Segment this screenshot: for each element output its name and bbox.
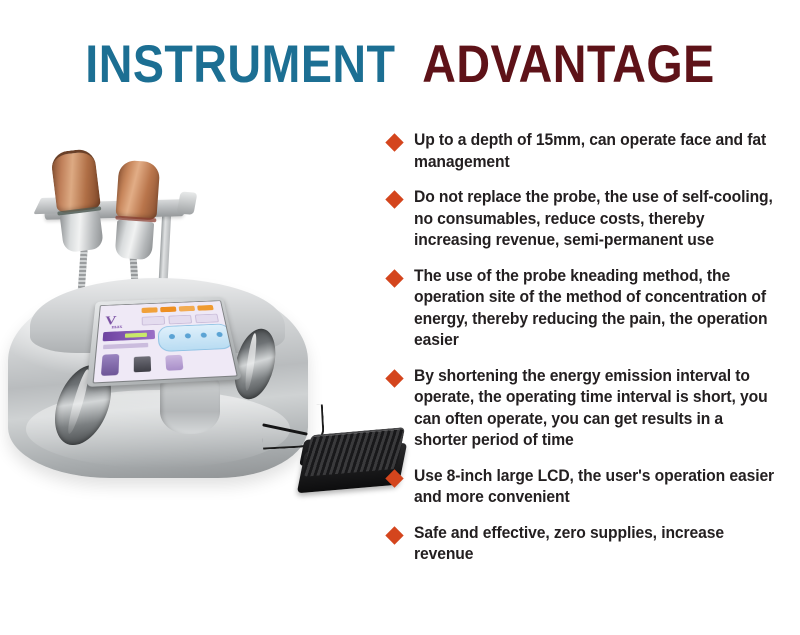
list-item-text: The use of the probe kneading method, th… [414, 266, 775, 352]
lcd-tab-bar[interactable] [142, 305, 214, 313]
lcd-settings-icon[interactable] [165, 355, 183, 371]
diamond-bullet-icon [385, 469, 403, 487]
product-image-vmax-machine: V max [0, 128, 380, 508]
lcd-energy-slider[interactable] [103, 330, 156, 342]
list-item-text: By shortening the energy emission interv… [414, 366, 775, 452]
list-item-text: Do not replace the probe, the use of sel… [414, 187, 775, 252]
page-title-word-instrument: INSTRUMENT [85, 35, 395, 94]
slide-root: INSTRUMENT ADVANTAGE V max [0, 0, 800, 635]
list-item: Use 8-inch large LCD, the user's operati… [388, 466, 792, 509]
handpiece-right [113, 160, 161, 261]
lcd-treatment-panel[interactable] [157, 323, 234, 352]
list-item-text: Safe and effective, zero supplies, incre… [414, 523, 775, 566]
lcd-subtab-3[interactable] [195, 314, 219, 323]
lcd-probe-icon[interactable] [101, 354, 119, 376]
list-item-text: Use 8-inch large LCD, the user's operati… [414, 466, 775, 509]
handpiece-left [50, 148, 106, 254]
list-item: The use of the probe kneading method, th… [388, 266, 792, 352]
machine-handle-groove [160, 378, 220, 434]
lcd-tab-3[interactable] [179, 306, 195, 312]
lcd-icon-row[interactable] [101, 349, 238, 376]
lcd-panel-node-2[interactable] [185, 333, 192, 338]
lcd-screen-surface[interactable]: V max [93, 300, 238, 383]
lcd-panel-node-1[interactable] [169, 334, 175, 339]
lcd-subtab-2[interactable] [168, 315, 192, 325]
page-title: INSTRUMENT ADVANTAGE [48, 34, 752, 95]
list-item: Safe and effective, zero supplies, incre… [388, 523, 792, 566]
handpiece-right-copper-tip [115, 160, 160, 221]
list-item: Up to a depth of 15mm, can operate face … [388, 130, 792, 173]
lcd-cartridge-icon[interactable] [134, 356, 151, 372]
list-item: By shortening the energy emission interv… [388, 366, 792, 452]
list-item-text: Up to a depth of 15mm, can operate face … [414, 130, 775, 173]
lcd-tab-4[interactable] [197, 305, 214, 311]
lcd-subtab-1[interactable] [142, 316, 165, 326]
diamond-bullet-icon [385, 269, 403, 287]
lcd-status-label [103, 343, 148, 349]
lcd-brand-logo: V max [104, 315, 122, 331]
handpiece-left-body [59, 210, 104, 253]
diamond-bullet-icon [385, 133, 403, 151]
lcd-panel-node-4[interactable] [216, 332, 223, 337]
diamond-bullet-icon [385, 369, 403, 387]
lcd-panel-node-3[interactable] [200, 333, 207, 338]
list-item: Do not replace the probe, the use of sel… [388, 187, 792, 252]
advantage-list: Up to a depth of 15mm, can operate face … [388, 130, 792, 580]
handpiece-right-body [114, 220, 154, 261]
lcd-tab-1[interactable] [142, 307, 158, 313]
handpiece-left-copper-tip [50, 148, 101, 214]
lcd-touchscreen[interactable]: V max [87, 297, 242, 387]
diamond-bullet-icon [385, 190, 403, 208]
diamond-bullet-icon [385, 526, 403, 544]
lcd-tab-2[interactable] [160, 306, 176, 312]
page-title-word-advantage: ADVANTAGE [422, 35, 714, 94]
